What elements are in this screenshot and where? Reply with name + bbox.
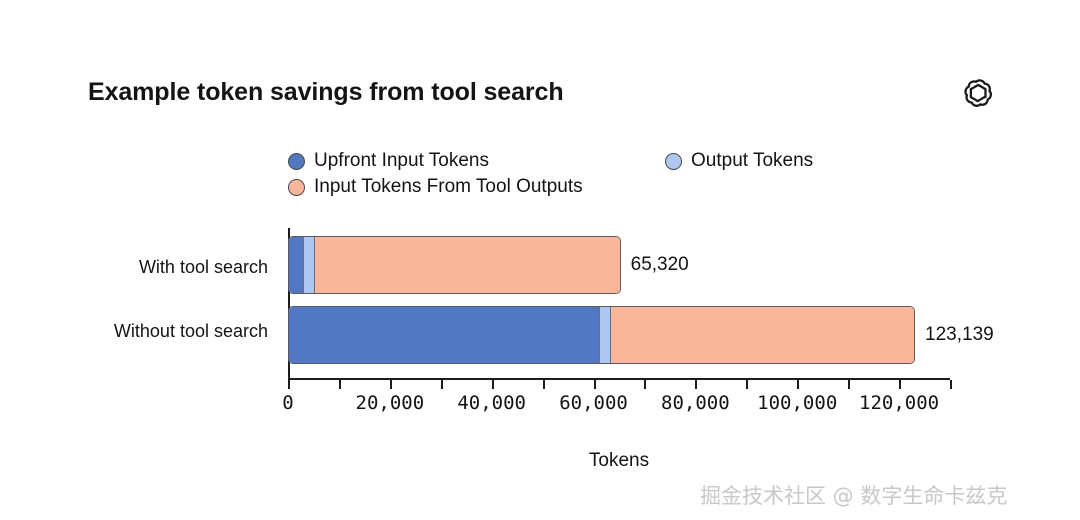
xtick-mark	[288, 380, 290, 389]
xtick-mark	[848, 380, 850, 389]
bar-total-label: 123,139	[925, 324, 994, 346]
legend-item-input-tokens-from-tool-outputs[interactable]: Input Tokens From Tool Outputs	[288, 176, 583, 198]
xtick-mark	[797, 380, 799, 389]
xtick-mark	[339, 380, 341, 389]
xtick-mark	[441, 380, 443, 389]
legend-item-label: Output Tokens	[691, 150, 813, 172]
xtick-mark	[950, 380, 952, 389]
xtick-label: 100,000	[757, 392, 837, 414]
legend-item-upfront-input-tokens[interactable]: Upfront Input Tokens	[288, 150, 489, 172]
legend: Upfront Input Tokens Output Tokens Input…	[288, 148, 908, 204]
xtick-label: 20,000	[356, 392, 425, 414]
stacked-bar-without-tool-search[interactable]	[288, 306, 915, 364]
legend-swatch-icon	[665, 153, 682, 170]
stacked-bar-with-tool-search[interactable]	[288, 236, 621, 294]
xtick-mark	[746, 380, 748, 389]
plot-area: 65,320 123,139	[288, 228, 950, 380]
bar-segment-output-tokens[interactable]	[599, 307, 610, 363]
legend-item-output-tokens[interactable]: Output Tokens	[665, 150, 813, 172]
xtick-mark	[644, 380, 646, 389]
legend-swatch-icon	[288, 179, 305, 196]
xtick-mark	[492, 380, 494, 389]
bar-segment-upfront-input-tokens[interactable]	[289, 307, 599, 363]
xtick-label: 40,000	[457, 392, 526, 414]
watermark: 掘金技术社区 @ 数字生命卡兹克	[700, 480, 1007, 510]
xtick-mark	[390, 380, 392, 389]
bar-segment-upfront-input-tokens[interactable]	[289, 237, 303, 293]
ytick-label-without-tool-search: Without tool search	[0, 321, 268, 342]
xtick-label: 60,000	[559, 392, 628, 414]
xtick-label: 0	[282, 392, 293, 414]
legend-item-label: Input Tokens From Tool Outputs	[314, 176, 583, 198]
legend-item-label: Upfront Input Tokens	[314, 150, 489, 172]
bar-total-label: 65,320	[631, 254, 689, 276]
ytick-label-with-tool-search: With tool search	[0, 257, 268, 278]
bar-segment-output-tokens[interactable]	[303, 237, 314, 293]
legend-swatch-icon	[288, 153, 305, 170]
xtick-mark	[594, 380, 596, 389]
chart-figure: Example token savings from tool search	[0, 0, 1080, 520]
bar-segment-input-tokens-from-tool-outputs[interactable]	[610, 307, 914, 363]
x-axis-title: Tokens	[589, 450, 649, 472]
bar-segment-input-tokens-from-tool-outputs[interactable]	[314, 237, 620, 293]
page-title: Example token savings from tool search	[88, 78, 564, 107]
xtick-label: 80,000	[661, 392, 730, 414]
xtick-mark	[543, 380, 545, 389]
xtick-mark	[899, 380, 901, 389]
x-axis-line	[288, 378, 950, 380]
xtick-label: 120,000	[859, 392, 939, 414]
xtick-mark	[695, 380, 697, 389]
openai-logo-icon	[957, 74, 995, 112]
